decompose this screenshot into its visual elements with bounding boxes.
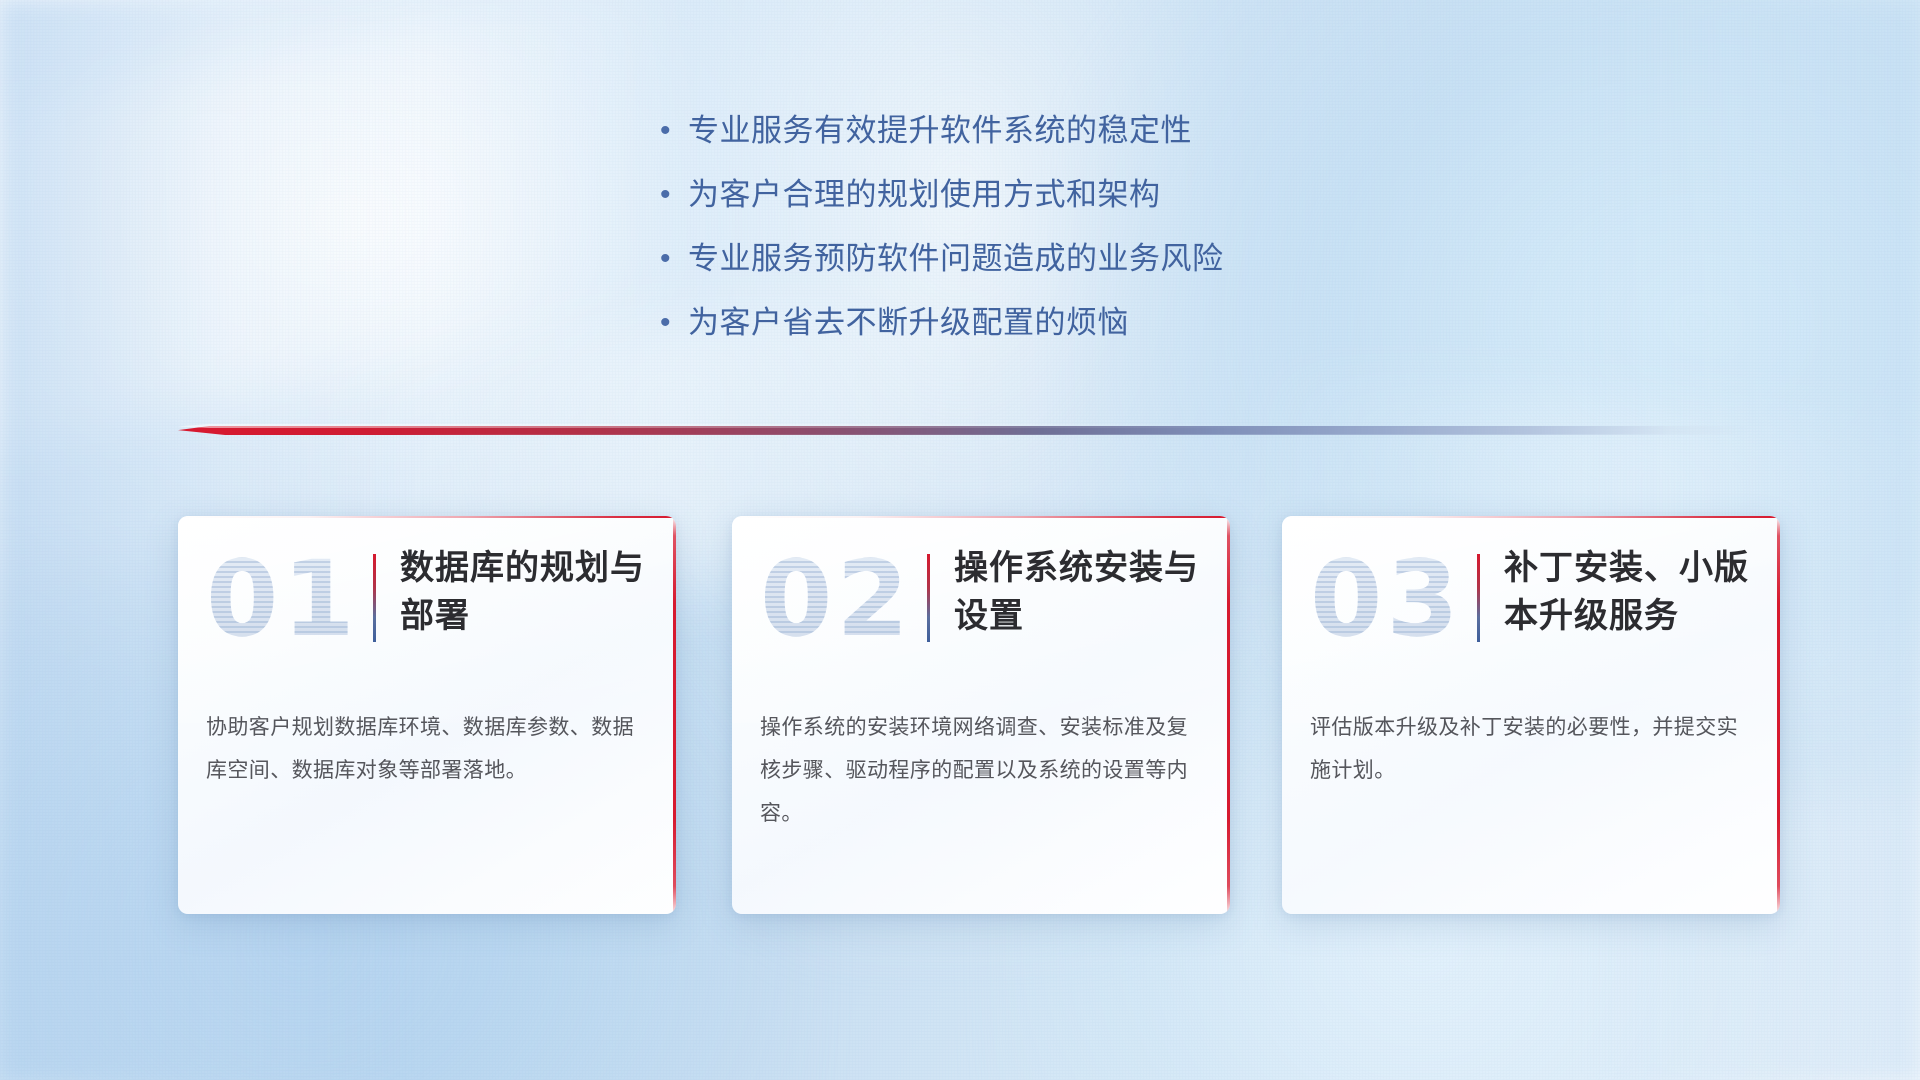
bullet-item-label: 专业服务有效提升软件系统的稳定性 (688, 110, 1192, 152)
card-title: 数据库的规划与部署 (400, 544, 650, 640)
list-item: • 为客户省去不断升级配置的烦恼 (660, 302, 1420, 366)
bullet-item-label: 专业服务预防软件问题造成的业务风险 (688, 238, 1224, 280)
list-item: • 专业服务预防软件问题造成的业务风险 (660, 238, 1420, 302)
section-divider (178, 424, 1748, 440)
card-header: 01 数据库的规划与部署 (178, 538, 676, 678)
list-item: • 专业服务有效提升软件系统的稳定性 (660, 110, 1420, 174)
bullet-dot-icon: • (660, 302, 688, 344)
card-description: 协助客户规划数据库环境、数据库参数、数据库空间、数据库对象等部署落地。 (206, 706, 646, 792)
card-number-watermark: 02 (760, 540, 913, 658)
service-card-group: 01 数据库的规划与部署 协助客户规划数据库环境、数据库参数、数据库空间、数据库… (0, 516, 1920, 920)
card-top-accent-line (732, 516, 1230, 518)
card-top-accent-line (178, 516, 676, 518)
card-header: 03 补丁安装、小版本升级服务 (1282, 538, 1780, 678)
card-header: 02 操作系统安装与设置 (732, 538, 1230, 678)
bullet-dot-icon: • (660, 110, 688, 152)
card-title: 操作系统安装与设置 (954, 544, 1204, 640)
card-title-separator (1477, 554, 1480, 642)
bullet-dot-icon: • (660, 238, 688, 280)
bullet-item-label: 为客户省去不断升级配置的烦恼 (688, 302, 1129, 344)
service-card[interactable]: 02 操作系统安装与设置 操作系统的安装环境网络调查、安装标准及复核步骤、驱动程… (732, 516, 1230, 914)
service-card[interactable]: 01 数据库的规划与部署 协助客户规划数据库环境、数据库参数、数据库空间、数据库… (178, 516, 676, 914)
card-number-watermark: 01 (206, 540, 359, 658)
card-title-separator (373, 554, 376, 642)
card-description: 操作系统的安装环境网络调查、安装标准及复核步骤、驱动程序的配置以及系统的设置等内… (760, 706, 1200, 835)
list-item: • 为客户合理的规划使用方式和架构 (660, 174, 1420, 238)
benefits-bullet-list: • 专业服务有效提升软件系统的稳定性 • 为客户合理的规划使用方式和架构 • 专… (660, 110, 1420, 366)
card-title: 补丁安装、小版本升级服务 (1504, 544, 1754, 640)
divider-highlight (178, 424, 1748, 428)
card-number-watermark: 03 (1310, 540, 1463, 658)
card-description: 评估版本升级及补丁安装的必要性，并提交实施计划。 (1310, 706, 1750, 792)
bullet-dot-icon: • (660, 174, 688, 216)
card-top-accent-line (1282, 516, 1780, 518)
bullet-item-label: 为客户合理的规划使用方式和架构 (688, 174, 1161, 216)
service-card[interactable]: 03 补丁安装、小版本升级服务 评估版本升级及补丁安装的必要性，并提交实施计划。 (1282, 516, 1780, 914)
card-title-separator (927, 554, 930, 642)
